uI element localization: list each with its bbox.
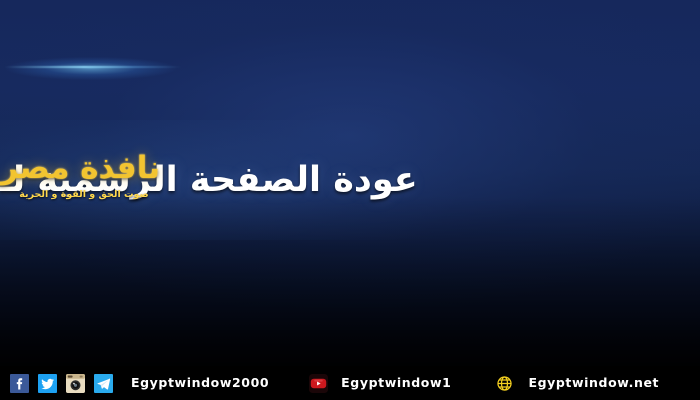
logo-wordmark: نافذة مصر	[8, 148, 160, 188]
handle-website[interactable]: Egyptwindow.net	[528, 377, 659, 390]
handle-facebook-group[interactable]: Egyptwindow2000	[131, 377, 269, 390]
instagram-icon[interactable]	[66, 374, 85, 393]
logo-tagline: صوت الحق و القوة و الحرية	[8, 188, 160, 201]
site-logo[interactable]: نافذة مصر صوت الحق و القوة و الحرية	[8, 148, 160, 214]
telegram-icon[interactable]	[94, 374, 113, 393]
handle-youtube[interactable]: Egyptwindow1	[341, 377, 451, 390]
social-icon-group	[10, 374, 113, 393]
twitter-icon[interactable]	[38, 374, 57, 393]
globe-icon[interactable]	[495, 374, 514, 393]
promo-banner: عودة الصفحة الرسمية لـ نافذة مصر صوت الح…	[0, 0, 700, 400]
logo-glow-line	[4, 66, 182, 68]
social-footer-bar: Egyptwindow2000 Egyptwindow1 Egyptwindow…	[0, 366, 700, 400]
youtube-icon[interactable]	[309, 374, 328, 393]
facebook-icon[interactable]	[10, 374, 29, 393]
background-bottom-fade	[0, 196, 700, 366]
